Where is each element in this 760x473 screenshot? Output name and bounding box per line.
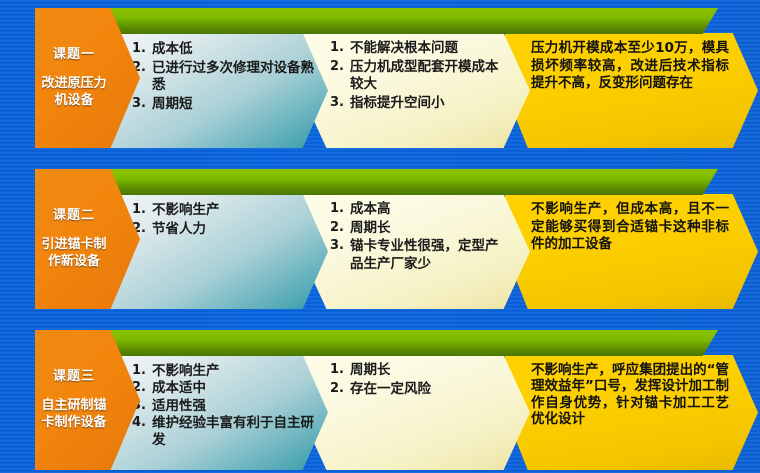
comparison-row-3: 优点 缺点 分析 不影响生产，呼应集团提出的“管理效益年”口号，发挥设计加工制作… bbox=[0, 322, 760, 473]
list-marker: 2. bbox=[330, 59, 350, 76]
list-marker: 2. bbox=[330, 381, 350, 398]
list-marker: 1. bbox=[330, 40, 350, 57]
list-item: 3.周期短 bbox=[132, 96, 314, 114]
list-text: 不影响生产 bbox=[152, 363, 314, 379]
comparison-row-2: 优点 缺点 分析 不影响生产，但成本高，且不一定能够买得到合适锚卡这种非标件的加… bbox=[0, 161, 760, 321]
topic-number: 课题一 bbox=[53, 47, 95, 64]
list-text: 节省人力 bbox=[152, 221, 314, 239]
cons-list: 1.成本高 2.周期长 3.锚卡专业性很强，定型产品生产厂家少 bbox=[330, 201, 508, 274]
cons-list: 1.不能解决根本问题 2.压力机成型配套开模成本较大 3.指标提升空间小 bbox=[330, 40, 508, 113]
list-text: 指标提升空间小 bbox=[350, 95, 508, 113]
list-text: 成本高 bbox=[350, 201, 508, 219]
list-item: 2.成本适中 bbox=[132, 380, 314, 396]
analysis-text: 不影响生产，呼应集团提出的“管理效益年”口号，发挥设计加工制作自身优势，针对锚卡… bbox=[531, 362, 729, 428]
list-text: 维护经验丰富有利于自主研发 bbox=[152, 415, 314, 448]
pros-panel-row-2[interactable]: 1.不影响生产 2.节省人力 bbox=[108, 194, 328, 309]
list-item: 1.周期长 bbox=[330, 362, 508, 380]
list-item: 3.适用性强 bbox=[132, 398, 314, 414]
list-item: 2.压力机成型配套开模成本较大 bbox=[330, 59, 508, 94]
topic-content: 课题一 改进原压力机设备 bbox=[35, 8, 113, 148]
header-band-row-2 bbox=[106, 169, 718, 195]
list-item: 2.周期长 bbox=[330, 220, 508, 238]
comparison-diagram: 优点 缺点 分析 压力机开模成本至少10万，模具损坏频率较高，改进后技术指标提升… bbox=[0, 0, 760, 473]
pros-panel-row-3[interactable]: 1.不影响生产 2.成本适中 3.适用性强 4.维护经验丰富有利于自主研发 bbox=[108, 355, 328, 470]
list-marker: 1. bbox=[330, 201, 350, 218]
list-text: 周期长 bbox=[350, 362, 508, 380]
header-band-row-3 bbox=[106, 330, 718, 356]
list-marker: 3. bbox=[330, 95, 350, 112]
topic-number: 课题三 bbox=[53, 369, 95, 386]
analysis-text: 不影响生产，但成本高，且不一定能够买得到合适锚卡这种非标件的加工设备 bbox=[531, 201, 729, 254]
cons-panel-row-2[interactable]: 1.成本高 2.周期长 3.锚卡专业性很强，定型产品生产厂家少 bbox=[300, 194, 530, 309]
topic-content: 课题三 自主研制锚卡制作设备 bbox=[35, 330, 113, 470]
list-text: 已进行过多次修理对设备熟悉 bbox=[152, 60, 314, 95]
pros-panel-row-1[interactable]: 1.成本低 2.已进行过多次修理对设备熟悉 3.周期短 bbox=[108, 33, 328, 148]
list-marker: 3. bbox=[330, 238, 350, 255]
list-text: 适用性强 bbox=[152, 398, 314, 414]
list-item: 4.维护经验丰富有利于自主研发 bbox=[132, 415, 314, 448]
list-marker: 3. bbox=[132, 96, 152, 113]
list-text: 不影响生产 bbox=[152, 202, 314, 220]
list-marker: 1. bbox=[132, 202, 152, 219]
pros-list: 1.成本低 2.已进行过多次修理对设备熟悉 3.周期短 bbox=[132, 41, 314, 114]
list-text: 不能解决根本问题 bbox=[350, 40, 508, 58]
comparison-row-1: 优点 缺点 分析 压力机开模成本至少10万，模具损坏频率较高，改进后技术指标提升… bbox=[0, 0, 760, 160]
list-item: 2.已进行过多次修理对设备熟悉 bbox=[132, 60, 314, 95]
analysis-panel-row-1[interactable]: 压力机开模成本至少10万，模具损坏频率较高，改进后技术指标提升不高，反变形问题存… bbox=[505, 33, 758, 148]
list-item: 1.不影响生产 bbox=[132, 202, 314, 220]
cons-panel-row-3[interactable]: 1.周期长 2.存在一定风险 bbox=[300, 355, 530, 470]
list-item: 2.存在一定风险 bbox=[330, 381, 508, 399]
list-item: 3.锚卡专业性很强，定型产品生产厂家少 bbox=[330, 238, 508, 273]
list-item: 1.成本高 bbox=[330, 201, 508, 219]
pros-list: 1.不影响生产 2.节省人力 bbox=[132, 202, 314, 239]
list-marker: 4. bbox=[132, 415, 152, 431]
list-item: 2.节省人力 bbox=[132, 221, 314, 239]
header-band-row-1 bbox=[106, 8, 718, 34]
list-text: 成本低 bbox=[152, 41, 314, 59]
cons-list: 1.周期长 2.存在一定风险 bbox=[330, 362, 508, 399]
list-marker: 1. bbox=[330, 362, 350, 379]
list-text: 周期短 bbox=[152, 96, 314, 114]
pros-list: 1.不影响生产 2.成本适中 3.适用性强 4.维护经验丰富有利于自主研发 bbox=[132, 363, 314, 449]
list-text: 锚卡专业性很强，定型产品生产厂家少 bbox=[350, 238, 508, 273]
list-item: 1.不能解决根本问题 bbox=[330, 40, 508, 58]
list-item: 3.指标提升空间小 bbox=[330, 95, 508, 113]
list-marker: 1. bbox=[132, 41, 152, 58]
list-marker: 2. bbox=[330, 220, 350, 237]
list-marker: 1. bbox=[132, 363, 152, 379]
list-text: 成本适中 bbox=[152, 380, 314, 396]
cons-panel-row-1[interactable]: 1.不能解决根本问题 2.压力机成型配套开模成本较大 3.指标提升空间小 bbox=[300, 33, 530, 148]
list-text: 存在一定风险 bbox=[350, 381, 508, 399]
list-text: 压力机成型配套开模成本较大 bbox=[350, 59, 508, 94]
list-item: 1.不影响生产 bbox=[132, 363, 314, 379]
list-item: 1.成本低 bbox=[132, 41, 314, 59]
analysis-panel-row-2[interactable]: 不影响生产，但成本高，且不一定能够买得到合适锚卡这种非标件的加工设备 bbox=[505, 194, 758, 309]
analysis-panel-row-3[interactable]: 不影响生产，呼应集团提出的“管理效益年”口号，发挥设计加工制作自身优势，针对锚卡… bbox=[505, 355, 758, 470]
analysis-text: 压力机开模成本至少10万，模具损坏频率较高，改进后技术指标提升不高，反变形问题存… bbox=[531, 40, 729, 93]
topic-description: 引进锚卡制作新设备 bbox=[35, 237, 113, 270]
list-text: 周期长 bbox=[350, 220, 508, 238]
topic-content: 课题二 引进锚卡制作新设备 bbox=[35, 169, 113, 309]
topic-description: 改进原压力机设备 bbox=[35, 76, 113, 109]
topic-description: 自主研制锚卡制作设备 bbox=[35, 398, 113, 431]
topic-number: 课题二 bbox=[53, 208, 95, 225]
